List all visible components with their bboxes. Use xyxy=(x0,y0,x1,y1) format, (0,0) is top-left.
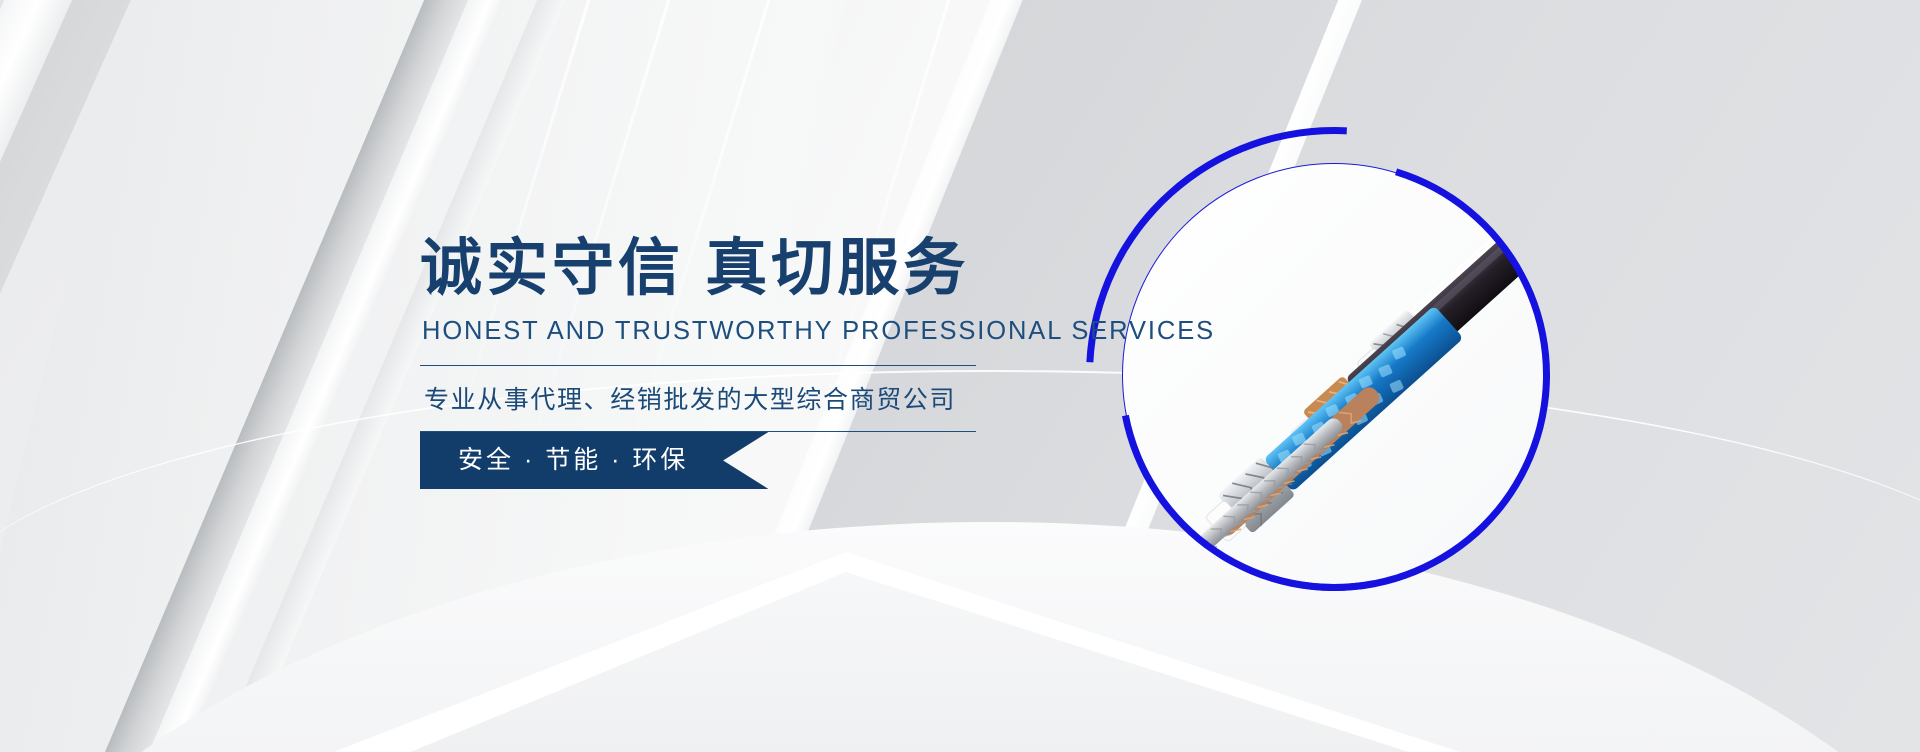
feature-ribbon: 安全 · 节能 · 环保 xyxy=(420,432,768,489)
ribbon-shape: 安全 · 节能 · 环保 xyxy=(420,432,768,489)
banner-headline: 诚实守信 真切服务 xyxy=(420,236,1020,303)
ribbon-label: 安全 · 节能 · 环保 xyxy=(420,432,768,489)
hero-banner: 诚实守信 真切服务 HONEST AND TRUSTWORTHY PROFESS… xyxy=(0,0,1920,752)
banner-description: 专业从事代理、经销批发的大型综合商贸公司 xyxy=(420,366,1020,431)
medallion-arc-bottom xyxy=(1034,75,1634,675)
banner-subheadline-english: HONEST AND TRUSTWORTHY PROFESSIONAL SERV… xyxy=(422,317,1020,346)
banner-copy: 诚实守信 真切服务 HONEST AND TRUSTWORTHY PROFESS… xyxy=(420,236,1020,489)
product-medallion xyxy=(1122,163,1546,587)
